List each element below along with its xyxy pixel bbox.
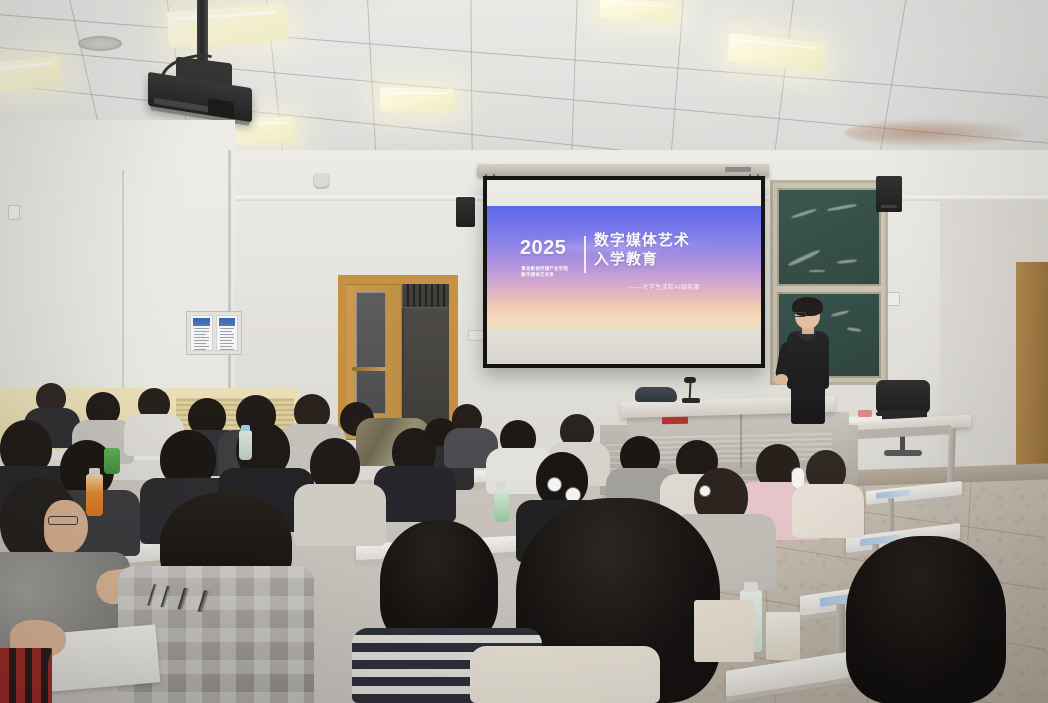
bottle-cap-2 (496, 482, 506, 489)
slide-divider (584, 236, 586, 273)
presenter-glasses-icon (793, 312, 806, 317)
projection-screen[interactable]: 2025 青岛影视传媒产业学院 数字媒体艺术系 数字媒体艺术 入学教育 ——大学… (483, 176, 765, 368)
lectern-panel-split (740, 414, 742, 468)
chair-base (884, 450, 922, 456)
ceiling-vent-icon (78, 36, 122, 51)
orange-beverage-bottle[interactable] (86, 474, 103, 516)
tote-bag[interactable] (694, 600, 754, 662)
student-head-front-right (846, 536, 1006, 703)
red-plaid-sleeve (0, 648, 52, 703)
hair-clip-white-2 (700, 486, 710, 496)
desk-item-dark[interactable] (876, 412, 892, 416)
smoke-detector-icon (313, 173, 330, 189)
chair-backrest (876, 380, 930, 414)
chalkboard-upper-panel[interactable] (777, 188, 881, 286)
notice-board[interactable] (186, 311, 242, 355)
wall-socket-left[interactable] (8, 205, 20, 220)
notice-poster-1 (190, 315, 213, 351)
student-torso-far-16 (374, 466, 456, 522)
slide-department: 青岛影视传媒产业学院 数字媒体艺术系 (521, 266, 568, 279)
presenter (783, 300, 843, 424)
presenter-legs (791, 386, 825, 424)
bottle-cap-1 (241, 425, 250, 431)
lectern-vent (632, 430, 832, 464)
student-torso-mid-3 (294, 484, 386, 546)
milk-carton[interactable] (766, 612, 800, 660)
microphone-icon[interactable] (684, 377, 696, 383)
green-beverage-can[interactable] (104, 448, 120, 474)
classroom-photo: 2025 青岛影视传媒产业学院 数字媒体艺术系 数字媒体艺术 入学教育 ——大学… (0, 0, 1048, 703)
slide-content: 2025 青岛影视传媒产业学院 数字媒体艺术系 数字媒体艺术 入学教育 ——大学… (487, 206, 761, 330)
notice-poster-2 (216, 315, 239, 351)
bottle-cap-3 (744, 582, 758, 592)
slide-title-line2: 入学教育 (594, 251, 690, 270)
screen-brand-label (725, 167, 751, 172)
student-torso-far-15 (792, 484, 864, 538)
water-bottle-clear-1[interactable] (239, 430, 252, 460)
ceiling-light-4 (380, 87, 454, 112)
wall-socket-center[interactable] (468, 330, 484, 341)
student-glasses-icon (48, 516, 78, 525)
microphone-base (682, 398, 700, 403)
wall-speaker-right (876, 176, 902, 212)
bag-on-lectern[interactable] (635, 387, 677, 402)
slide-subtitle: ——大学生活和AI赋能篇 (629, 282, 699, 291)
slide-department-line2: 数字媒体艺术系 (521, 272, 568, 279)
student-torso-cream-right (470, 646, 660, 703)
desk-item-pink[interactable] (858, 410, 872, 417)
slide-title-line1: 数字媒体艺术 (594, 232, 690, 251)
slide-title: 数字媒体艺术 入学教育 (594, 232, 690, 270)
slide-year: 2025 (520, 237, 567, 260)
screen-blank-top (487, 180, 761, 206)
bottle-cap-orange (89, 468, 100, 476)
presenter-hand (775, 374, 788, 385)
wall-speaker-left (456, 197, 475, 227)
water-bottle-green[interactable] (494, 488, 509, 522)
hair-clip-flower-1 (548, 478, 561, 491)
ceiling-water-stain (845, 120, 1025, 146)
lectern-red-label (662, 417, 688, 425)
screen-blank-bottom (487, 330, 761, 364)
student-face-front-left (44, 500, 88, 554)
